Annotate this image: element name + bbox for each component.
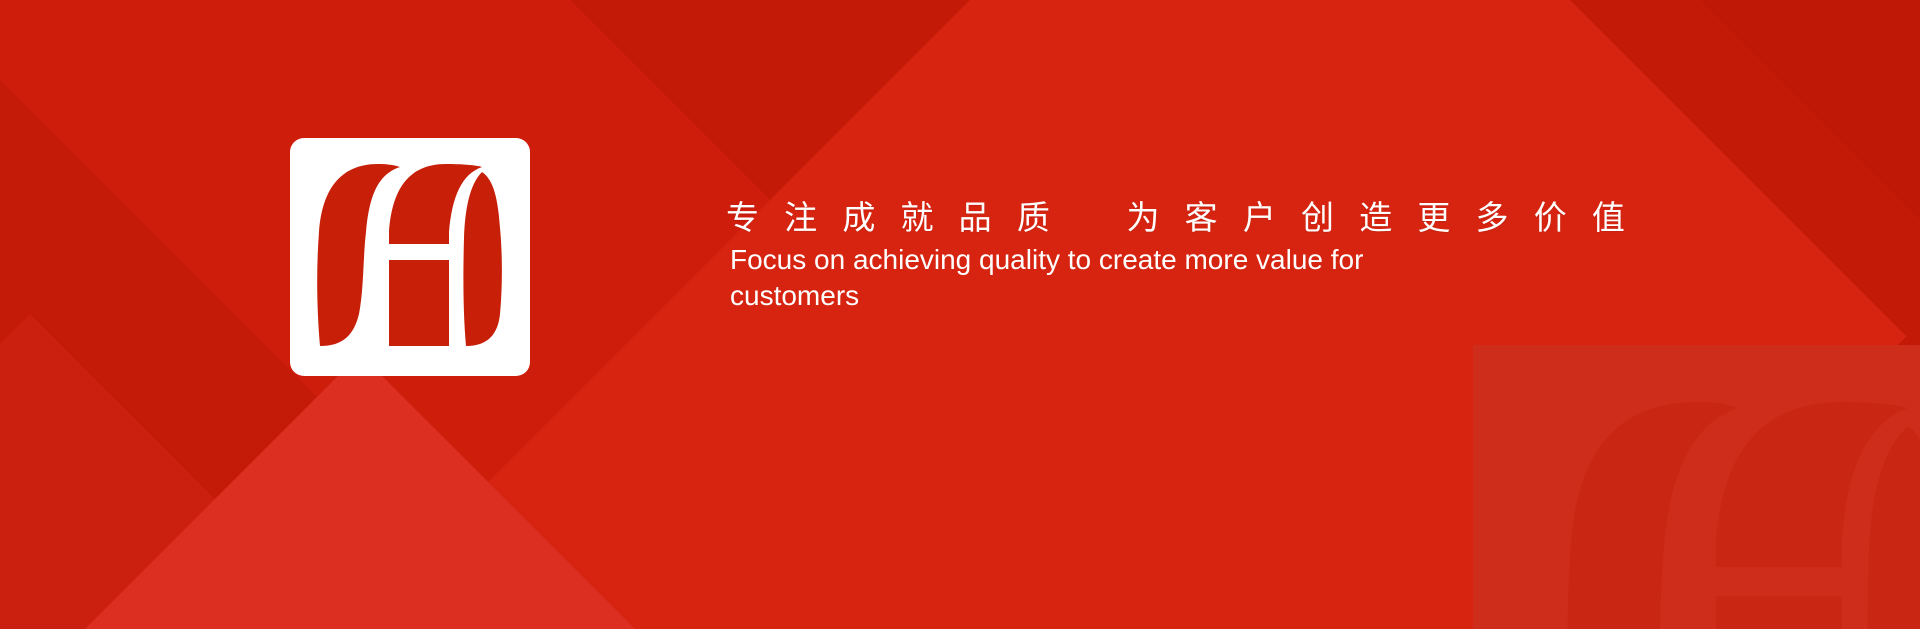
background-shape-diamond bbox=[0, 354, 756, 629]
hero-banner: 专 注 成 就 品 质 为 客 户 创 造 更 多 价 值 Focus on a… bbox=[0, 0, 1920, 629]
watermark-logo-icon bbox=[1540, 375, 1920, 629]
banner-headline-chinese: 专 注 成 就 品 质 为 客 户 创 造 更 多 价 值 bbox=[726, 196, 1686, 240]
banner-subline-english: Focus on achieving quality to create mor… bbox=[726, 242, 1500, 314]
banner-copy: 专 注 成 就 品 质 为 客 户 创 造 更 多 价 值 Focus on a… bbox=[726, 196, 1686, 314]
company-logo[interactable] bbox=[290, 138, 530, 376]
